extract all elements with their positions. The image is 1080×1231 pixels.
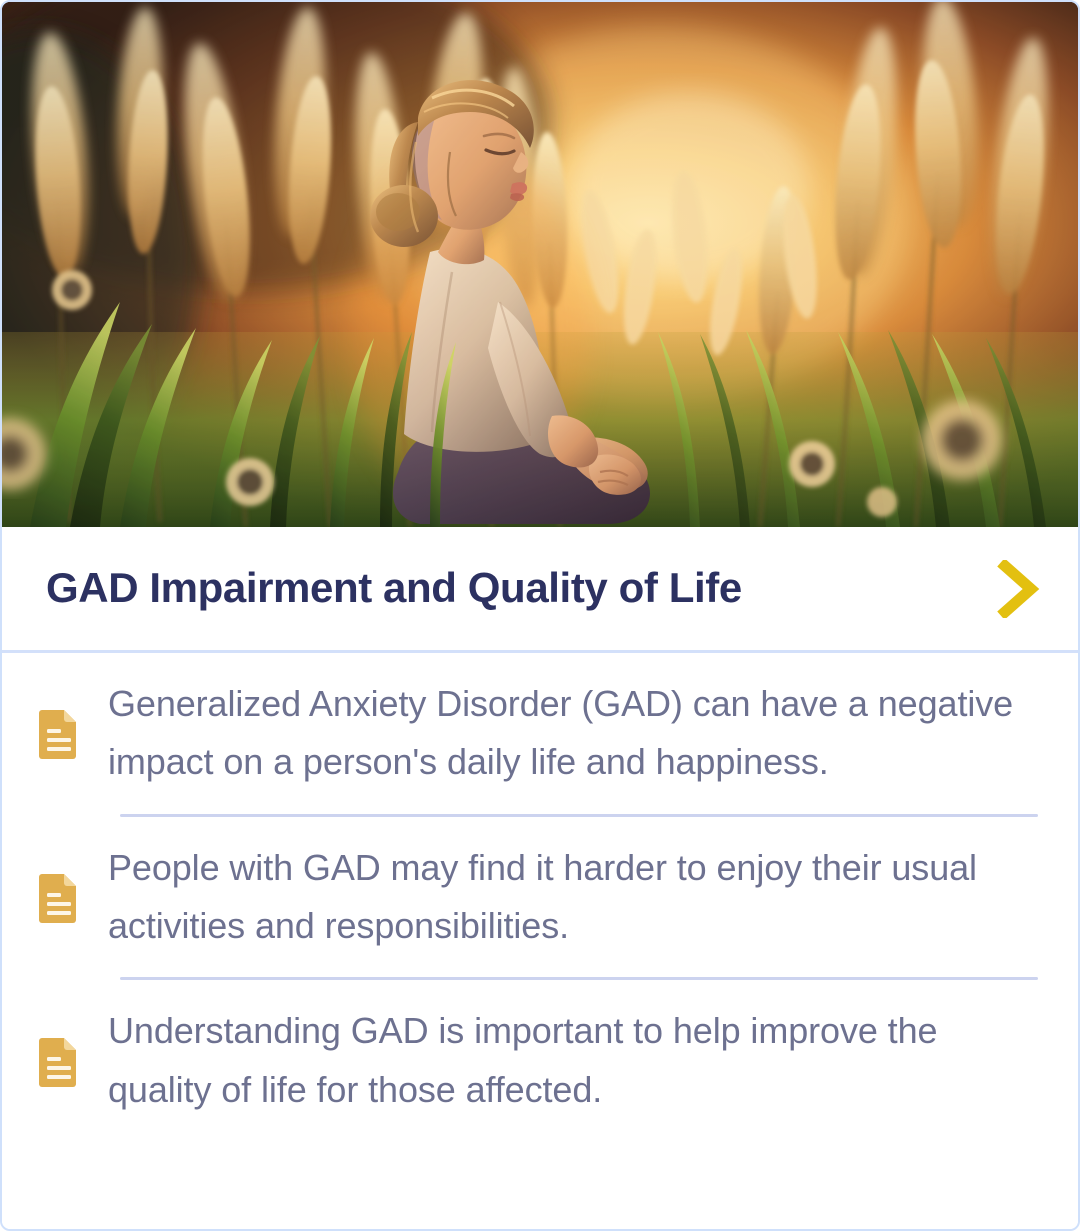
list-item-text: Generalized Anxiety Disorder (GAD) can h… xyxy=(108,675,1038,792)
page-title: GAD Impairment and Quality of Life xyxy=(46,565,742,611)
list-item: People with GAD may find it harder to en… xyxy=(2,817,1078,978)
card-header[interactable]: GAD Impairment and Quality of Life xyxy=(2,527,1078,653)
content-card: GAD Impairment and Quality of Life Gener… xyxy=(0,0,1080,1231)
document-icon xyxy=(36,707,82,759)
bullet-list: Generalized Anxiety Disorder (GAD) can h… xyxy=(2,653,1078,1229)
hero-image xyxy=(2,2,1078,527)
document-icon xyxy=(36,1035,82,1087)
list-item: Generalized Anxiety Disorder (GAD) can h… xyxy=(2,653,1078,814)
list-item-text: Understanding GAD is important to help i… xyxy=(108,1002,1038,1119)
list-item: Understanding GAD is important to help i… xyxy=(2,980,1078,1141)
chevron-right-icon[interactable] xyxy=(988,559,1048,619)
document-icon xyxy=(36,871,82,923)
list-item-text: People with GAD may find it harder to en… xyxy=(108,839,1038,956)
